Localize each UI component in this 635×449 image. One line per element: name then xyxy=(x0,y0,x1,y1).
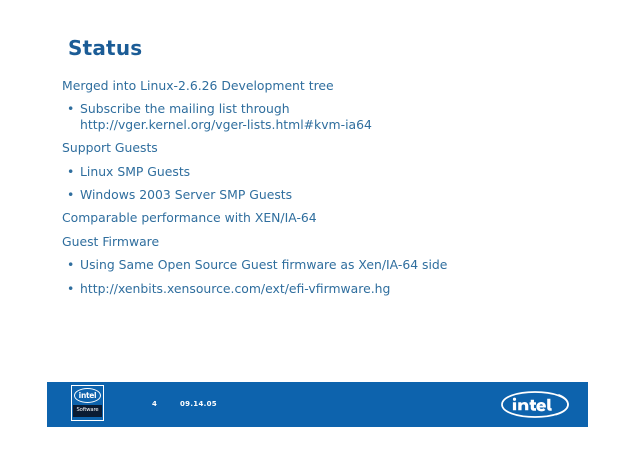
bullet-icon: • xyxy=(67,283,74,295)
bullet-label: Windows 2003 Server SMP Guests xyxy=(80,189,562,201)
bullet-icon: • xyxy=(67,103,74,115)
intel-oval-icon: intel xyxy=(74,388,101,403)
software-band: Software xyxy=(73,405,102,417)
footer-date: 09.14.05 xyxy=(180,400,217,408)
bullet-link-text[interactable]: http://vger.kernel.org/vger-lists.html#k… xyxy=(80,119,562,131)
slide-body: Merged into Linux-2.6.26 Development tre… xyxy=(62,80,562,306)
bullet-item: • http://xenbits.xensource.com/ext/efi-v… xyxy=(62,283,562,295)
page-title: Status xyxy=(68,37,142,60)
bullet-item: • Subscribe the mailing list through htt… xyxy=(62,103,562,131)
software-label: Software xyxy=(76,408,98,413)
bullet-label: Linux SMP Guests xyxy=(80,166,562,178)
slide-footer-bar: intel Software 4 09.14.05 xyxy=(47,382,588,427)
page-number: 4 xyxy=(152,400,157,408)
body-line: Support Guests xyxy=(62,142,562,154)
intel-software-badge-icon: intel Software xyxy=(71,385,104,421)
bullet-icon: • xyxy=(67,189,74,201)
body-line: Merged into Linux-2.6.26 Development tre… xyxy=(62,80,562,92)
bullet-item: • Linux SMP Guests xyxy=(62,166,562,178)
bullet-icon: • xyxy=(67,166,74,178)
bullet-item: • Windows 2003 Server SMP Guests xyxy=(62,189,562,201)
bullet-label: Subscribe the mailing list through xyxy=(80,101,290,116)
bullet-label: Using Same Open Source Guest firmware as… xyxy=(80,259,562,271)
bullet-item: • Using Same Open Source Guest firmware … xyxy=(62,259,562,271)
bullet-link-text[interactable]: http://xenbits.xensource.com/ext/efi-vfi… xyxy=(80,283,562,295)
intel-wordmark: intel xyxy=(79,392,97,400)
bullet-text: Subscribe the mailing list through http:… xyxy=(80,103,562,131)
intel-logo-icon xyxy=(499,390,571,419)
body-line: Comparable performance with XEN/IA-64 xyxy=(62,212,562,224)
bullet-icon: • xyxy=(67,259,74,271)
slide-canvas: Status Merged into Linux-2.6.26 Developm… xyxy=(0,0,635,449)
body-line: Guest Firmware xyxy=(62,236,562,248)
